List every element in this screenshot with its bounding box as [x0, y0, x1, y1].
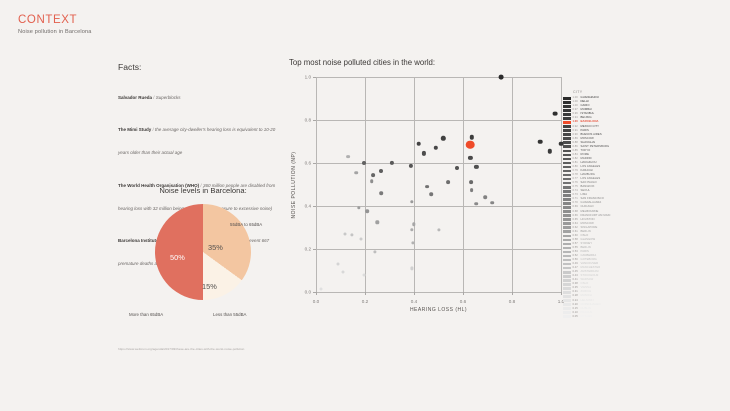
x-tick-label: 0.0: [313, 299, 319, 304]
x-tick-mark: [316, 292, 317, 295]
legend-color-swatch: [563, 150, 571, 153]
legend-color-swatch: [563, 101, 571, 104]
scatter-point[interactable]: [446, 180, 450, 184]
scatter-point[interactable]: [350, 233, 353, 236]
scatter-point[interactable]: [412, 223, 415, 226]
legend-color-swatch: [563, 287, 571, 290]
scatter-point-highlighted[interactable]: [466, 140, 475, 149]
legend-color-swatch: [563, 166, 571, 169]
legend-color-swatch: [563, 162, 571, 165]
legend-color-swatch: [563, 267, 571, 270]
legend-color-swatch: [563, 190, 571, 193]
legend-value: 0.05: [573, 315, 581, 319]
legend-color-swatch: [563, 218, 571, 221]
legend-color-swatch: [563, 206, 571, 209]
page-title: CONTEXT: [18, 14, 92, 26]
scatter-point[interactable]: [409, 164, 413, 168]
gridline-vertical: [561, 77, 562, 292]
legend-color-swatch: [563, 263, 571, 266]
page-subtitle: Noise pollution in Barcelona: [18, 29, 92, 35]
scatter-point[interactable]: [379, 191, 383, 195]
scatter-point[interactable]: [470, 188, 474, 192]
legend-color-swatch: [563, 283, 571, 286]
scatter-point[interactable]: [319, 288, 322, 291]
scatter-point[interactable]: [379, 169, 383, 173]
legend-color-swatch: [563, 202, 571, 205]
legend-color-swatch: [563, 137, 571, 140]
source-url[interactable]: https://www.weforum.org/agenda/2017/03/t…: [118, 347, 244, 351]
legend-color-swatch: [563, 222, 571, 225]
legend-color-swatch: [563, 247, 571, 250]
legend-color-swatch: [563, 186, 571, 189]
gridline-horizontal: [316, 206, 561, 207]
scatter-plot-area: NOISE POLLUTION (NP) HEARING LOSS (HL) 0…: [316, 77, 561, 292]
scatter-point[interactable]: [491, 201, 495, 205]
scatter-point[interactable]: [343, 233, 346, 236]
scatter-point[interactable]: [548, 149, 552, 153]
scatter-point[interactable]: [362, 161, 366, 165]
legend-color-swatch: [563, 174, 571, 177]
legend-color-swatch: [563, 133, 571, 136]
pie-slice-value-1: 35%: [208, 243, 223, 252]
y-tick-label: 0.2: [305, 247, 311, 252]
x-tick-mark: [561, 292, 562, 295]
legend-color-swatch: [563, 125, 571, 128]
legend-color-swatch: [563, 255, 571, 258]
x-axis-label: HEARING LOSS (HL): [410, 307, 467, 313]
pie-slice-label-2: Less than 55dBA: [213, 312, 246, 317]
legend-city-label: OTTAWA: [581, 315, 593, 319]
y-tick-label: 1.0: [305, 75, 311, 80]
fact-text: Superblocks: [156, 95, 181, 100]
legend-color-swatch: [563, 178, 571, 181]
y-tick-label: 0.8: [305, 118, 311, 123]
legend-color-swatch: [563, 311, 571, 314]
legend-color-swatch: [563, 194, 571, 197]
fact-item: Salvador Rueda / Superblocks: [118, 83, 278, 106]
x-tick-label: 0.6: [460, 299, 466, 304]
scatter-point[interactable]: [422, 151, 426, 155]
scatter-point[interactable]: [342, 270, 345, 273]
legend-color-swatch: [563, 295, 571, 298]
scatter-point[interactable]: [468, 156, 472, 160]
scatter-point[interactable]: [483, 196, 487, 200]
y-tick-label: 0.0: [305, 290, 311, 295]
scatter-point[interactable]: [425, 185, 429, 189]
legend-color-swatch: [563, 243, 571, 246]
legend-color-swatch: [563, 235, 571, 238]
fact-item: The Mimi Study / the average city-dwelle…: [118, 115, 278, 161]
scatter-point[interactable]: [434, 146, 438, 150]
legend-color-swatch: [563, 170, 571, 173]
pie-slice-label-3: More than 65dBA: [129, 312, 163, 317]
legend-color-swatch: [563, 303, 571, 306]
legend-color-swatch: [563, 259, 571, 262]
scatter-point[interactable]: [429, 192, 433, 196]
legend-color-swatch: [563, 182, 571, 185]
legend-color-swatch: [563, 210, 571, 213]
x-tick-label: 0.4: [411, 299, 417, 304]
scatter-chart-block: Top most noise polluted cities in the wo…: [289, 58, 561, 292]
x-tick-label: 0.8: [509, 299, 515, 304]
legend-color-swatch: [563, 239, 571, 242]
gridline-vertical: [316, 77, 317, 292]
legend-color-swatch: [563, 230, 571, 233]
y-tick-label: 0.4: [305, 204, 311, 209]
scatter-point[interactable]: [499, 75, 504, 80]
legend-color-swatch: [563, 198, 571, 201]
legend-color-swatch: [563, 154, 571, 157]
legend-row[interactable]: 0.05OTTAWA: [563, 315, 629, 319]
legend-color-swatch: [563, 97, 571, 100]
pie-chart-block: Noise levels in Barcelona: 35% 15% 50% 5…: [112, 186, 294, 326]
scatter-point[interactable]: [370, 179, 374, 183]
scatter-point[interactable]: [469, 135, 473, 139]
scatter-point[interactable]: [337, 263, 340, 266]
scatter-point[interactable]: [359, 237, 362, 240]
legend-color-swatch: [563, 158, 571, 161]
scatter-point[interactable]: [366, 210, 370, 214]
legend-color-swatch: [563, 307, 571, 310]
pie-chart-title: Noise levels in Barcelona:: [112, 186, 294, 195]
facts-heading: Facts:: [118, 62, 278, 72]
scatter-point[interactable]: [469, 180, 473, 184]
legend-color-swatch: [563, 271, 571, 274]
fact-source: Salvador Rueda: [118, 95, 152, 100]
scatter-point[interactable]: [376, 220, 379, 223]
legend-color-swatch: [563, 113, 571, 116]
scatter-point[interactable]: [538, 139, 543, 144]
scatter-point[interactable]: [410, 200, 413, 203]
pie-slice-label-1: 55dBA to 65dBA: [230, 222, 262, 227]
legend-color-swatch: [563, 105, 571, 108]
scatter-point[interactable]: [410, 228, 413, 231]
scatter-point[interactable]: [390, 161, 394, 165]
legend-color-swatch: [563, 226, 571, 229]
fact-source: The Mimi Study: [118, 127, 151, 132]
gridline-vertical: [414, 77, 415, 292]
legend-color-swatch: [563, 145, 571, 148]
x-tick-mark: [512, 292, 513, 295]
legend-header: CITY: [573, 90, 629, 94]
legend-color-swatch: [563, 275, 571, 278]
scatter-point[interactable]: [373, 251, 376, 254]
legend-color-swatch: [563, 279, 571, 282]
gridline-horizontal: [316, 292, 561, 293]
legend-color-swatch: [563, 117, 571, 120]
pie-slice-value-2: 15%: [202, 282, 217, 291]
scatter-point[interactable]: [362, 273, 365, 276]
pie-slice-value-3: 50%: [170, 253, 185, 262]
legend-color-swatch: [563, 315, 571, 318]
scatter-point[interactable]: [475, 202, 479, 206]
legend-color-swatch: [563, 109, 571, 112]
legend-color-swatch: [563, 121, 571, 124]
scatter-point[interactable]: [371, 173, 375, 177]
x-tick-mark: [463, 292, 464, 295]
x-tick-label: 0.2: [362, 299, 368, 304]
scatter-point[interactable]: [417, 141, 422, 146]
x-tick-mark: [365, 292, 366, 295]
gridline-horizontal: [316, 77, 561, 78]
legend-color-swatch: [563, 129, 571, 132]
x-tick-mark: [414, 292, 415, 295]
scatter-point[interactable]: [441, 136, 445, 140]
legend-color-swatch: [563, 214, 571, 217]
gridline-horizontal: [316, 163, 561, 164]
legend-color-swatch: [563, 141, 571, 144]
legend-color-swatch: [563, 251, 571, 254]
slide-header: CONTEXT Noise pollution in Barcelona: [18, 14, 92, 35]
city-legend: CITY 1.00GUANGZHOU1.00DELHI1.00CAIRO0.97…: [563, 90, 629, 319]
gridline-vertical: [365, 77, 366, 292]
y-tick-label: 0.6: [305, 161, 311, 166]
scatter-point[interactable]: [474, 165, 478, 169]
scatter-chart-title: Top most noise polluted cities in the wo…: [289, 58, 561, 67]
pie-chart-figure: 35% 15% 50% 55dBA to 65dBA More than 65d…: [112, 204, 294, 326]
scatter-point[interactable]: [455, 166, 459, 170]
gridline-horizontal: [316, 120, 561, 121]
scatter-point[interactable]: [357, 206, 360, 209]
legend-color-swatch: [563, 299, 571, 302]
legend-color-swatch: [563, 291, 571, 294]
scatter-point[interactable]: [346, 155, 350, 159]
y-axis-label: NOISE POLLUTION (NP): [291, 151, 297, 218]
gridline-vertical: [512, 77, 513, 292]
slide-canvas: CONTEXT Noise pollution in Barcelona Fac…: [0, 0, 730, 411]
gridline-horizontal: [316, 249, 561, 250]
scatter-point[interactable]: [410, 267, 413, 270]
legend-rows: 1.00GUANGZHOU1.00DELHI1.00CAIRO0.97MUMBA…: [563, 96, 629, 319]
scatter-point[interactable]: [437, 228, 440, 231]
scatter-point[interactable]: [355, 171, 359, 175]
gridline-vertical: [463, 77, 464, 292]
scatter-point[interactable]: [552, 111, 557, 116]
